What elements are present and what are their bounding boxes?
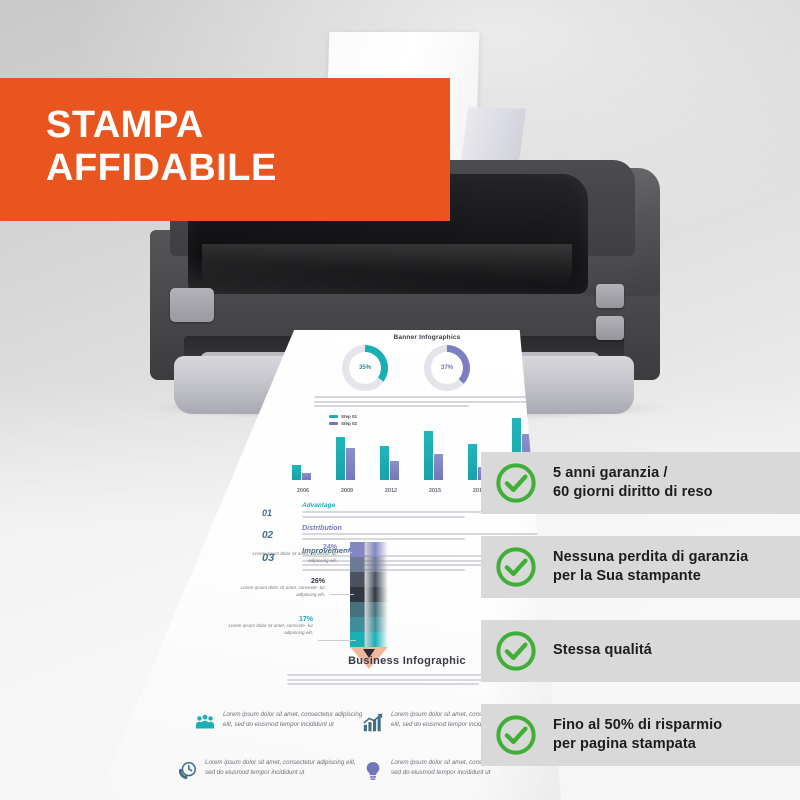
headline-text: STAMPAAFFIDABILE (0, 78, 450, 189)
feature-list: 5 anni garanzia /60 giorni diritto di re… (481, 452, 800, 766)
check-circle-icon (495, 462, 537, 504)
advertisement-banner: Banner Infographics 35% 37% Step 01Step … (0, 0, 800, 800)
check-circle-icon (495, 630, 537, 672)
headline-banner: STAMPAAFFIDABILE (0, 78, 450, 221)
printer-right-button-top[interactable] (596, 284, 624, 308)
feature-label: Fino al 50% di risparmioper pagina stamp… (553, 716, 722, 754)
feature-item: Stessa qualitá (481, 620, 800, 682)
check-circle-icon (495, 714, 537, 756)
feature-label: Stessa qualitá (553, 641, 652, 660)
printer-lid-gloss (202, 244, 572, 286)
printer-right-button-bottom[interactable] (596, 316, 624, 340)
feature-item: Nessuna perdita di garanziaper la Sua st… (481, 536, 800, 598)
feature-label: Nessuna perdita di garanziaper la Sua st… (553, 548, 748, 586)
feature-item: 5 anni garanzia /60 giorni diritto di re… (481, 452, 800, 514)
headline-line-1: STAMPA (46, 104, 204, 146)
feature-label: 5 anni garanzia /60 giorni diritto di re… (553, 464, 713, 502)
check-circle-icon (495, 546, 537, 588)
feature-item: Fino al 50% di risparmioper pagina stamp… (481, 704, 800, 766)
printer-left-panel-button[interactable] (170, 288, 214, 322)
headline-line-2: AFFIDABILE (46, 147, 277, 189)
